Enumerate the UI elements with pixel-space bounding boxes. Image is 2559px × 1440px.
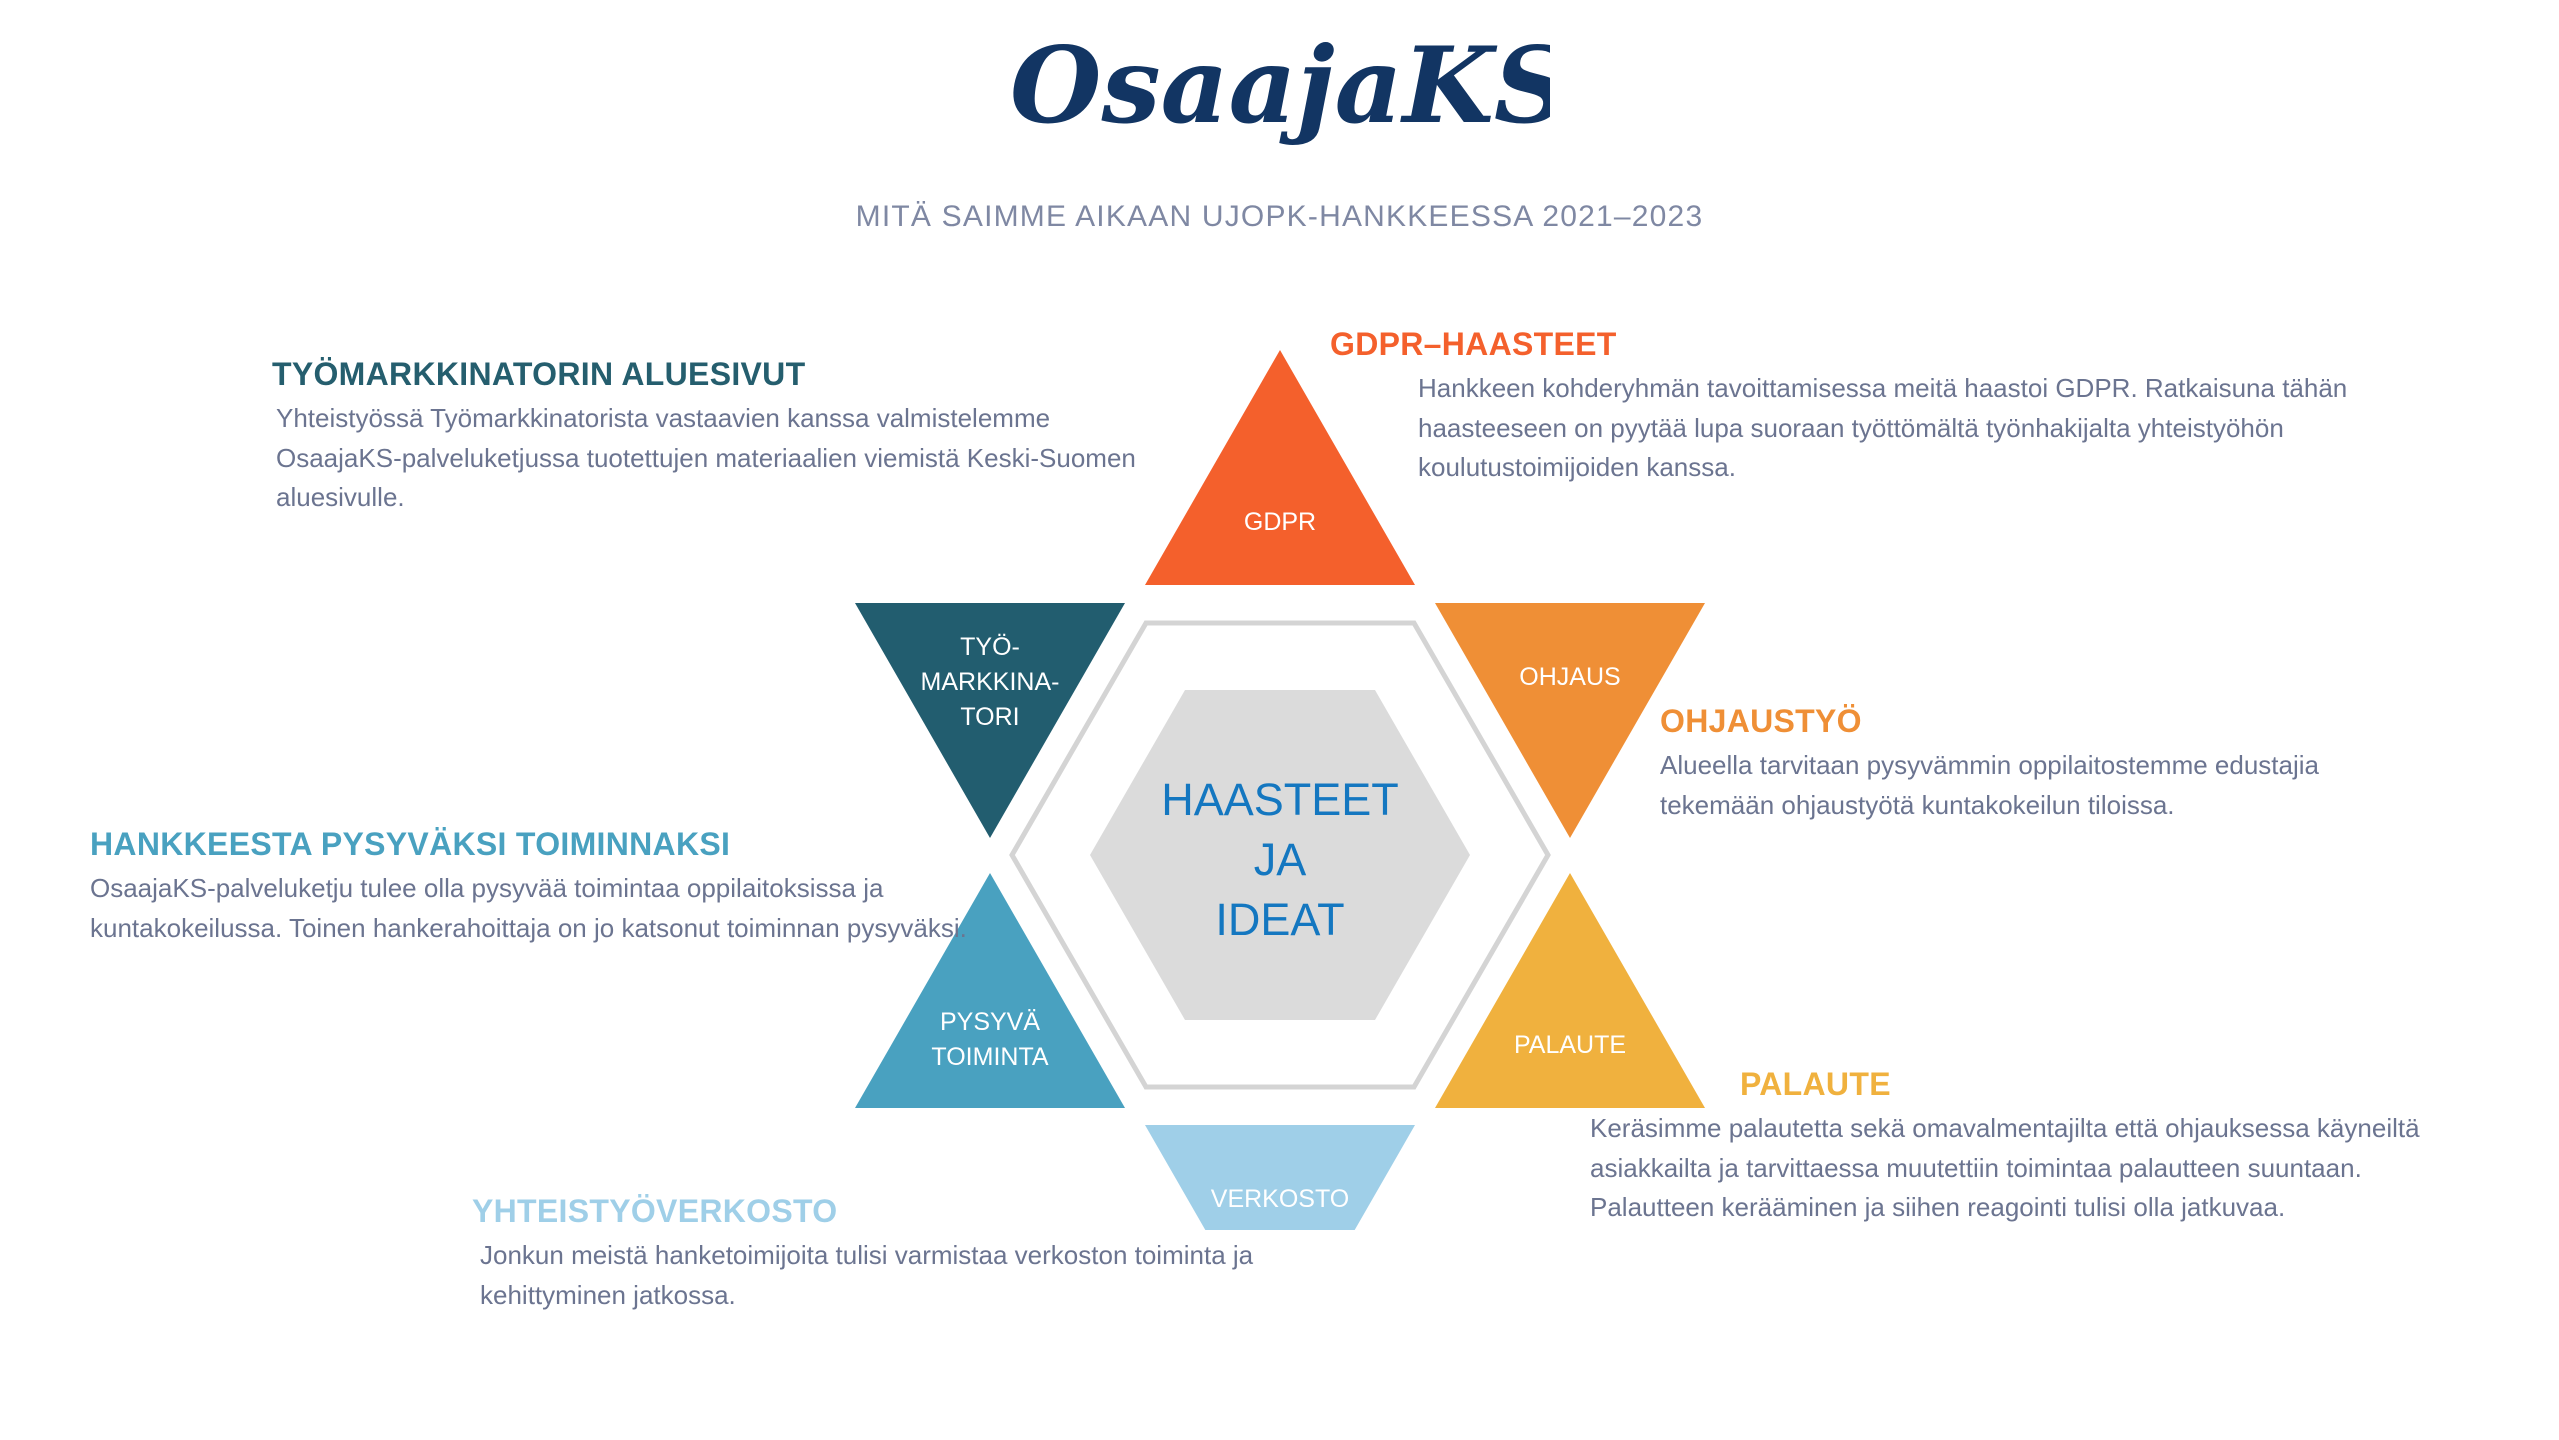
text-block-gdpr-heading: GDPR–HAASTEET <box>1330 325 2390 363</box>
text-block-verkosto-heading: YHTEISTYÖVERKOSTO <box>468 1192 1268 1230</box>
segment-gdpr-label: GDPR <box>1244 508 1316 536</box>
text-block-tyomarkkinatori-heading: TYÖMARKKINATORIN ALUESIVUT <box>272 355 1172 393</box>
text-block-tyomarkkinatori-body: Yhteistyössä Työmarkkinatorista vastaavi… <box>272 399 1172 518</box>
logo-wordmark: OsaajaKS <box>1010 22 1550 152</box>
page-subtitle: MITÄ SAIMME AIKAAN UJOPK-HANKKEESSA 2021… <box>0 200 2559 234</box>
segment-ohjaus-label: OHJAUS <box>1519 663 1620 691</box>
text-block-verkosto: YHTEISTYÖVERKOSTO Jonkun meistä hanketoi… <box>468 1192 1268 1315</box>
text-block-tyomarkkinatori: TYÖMARKKINATORIN ALUESIVUT Yhteistyössä … <box>272 355 1172 518</box>
osaajaks-logo: OsaajaKS <box>0 22 2559 157</box>
text-block-hankkeesta-heading: HANKKEESTA PYSYVÄKSI TOIMINNAKSI <box>90 825 990 863</box>
center-label-line2: JA <box>1254 834 1307 885</box>
segment-tyomarkkinatori-label-line1: TYÖ- <box>960 633 1020 661</box>
text-block-palaute-body: Keräsimme palautetta sekä omavalmentajil… <box>1590 1109 2450 1228</box>
text-block-hankkeesta: HANKKEESTA PYSYVÄKSI TOIMINNAKSI OsaajaK… <box>90 825 990 948</box>
infographic-canvas: OsaajaKS MITÄ SAIMME AIKAAN UJOPK-HANKKE… <box>0 0 2559 1440</box>
center-label-line1: HAASTEET <box>1161 774 1399 825</box>
text-block-gdpr: GDPR–HAASTEET Hankkeen kohderyhmän tavoi… <box>1330 325 2390 488</box>
text-block-verkosto-body: Jonkun meistä hanketoimijoita tulisi var… <box>468 1236 1268 1315</box>
text-block-palaute: PALAUTE Keräsimme palautetta sekä omaval… <box>1590 1065 2450 1228</box>
text-block-gdpr-body: Hankkeen kohderyhmän tavoittamisessa mei… <box>1330 369 2390 488</box>
logo-text: OsaajaKS <box>1010 23 1550 147</box>
segment-tyomarkkinatori-label-line2: MARKKINA- <box>921 668 1060 696</box>
center-label-line3: IDEAT <box>1215 894 1344 945</box>
text-block-ohjaus-body: Alueella tarvitaan pysyvämmin oppilaitos… <box>1660 746 2360 825</box>
segment-palaute-label: PALAUTE <box>1514 1031 1626 1059</box>
text-block-palaute-heading: PALAUTE <box>1590 1065 2450 1103</box>
text-block-ohjaus: OHJAUSTYÖ Alueella tarvitaan pysyvämmin … <box>1660 702 2360 825</box>
segment-pysyva-label-line2: TOIMINTA <box>931 1043 1048 1071</box>
text-block-ohjaus-heading: OHJAUSTYÖ <box>1660 702 2360 740</box>
text-block-hankkeesta-body: OsaajaKS-palveluketju tulee olla pysyvää… <box>90 869 990 948</box>
segment-tyomarkkinatori-label-line3: TORI <box>960 703 1019 731</box>
segment-pysyva-label-line1: PYSYVÄ <box>940 1008 1040 1036</box>
